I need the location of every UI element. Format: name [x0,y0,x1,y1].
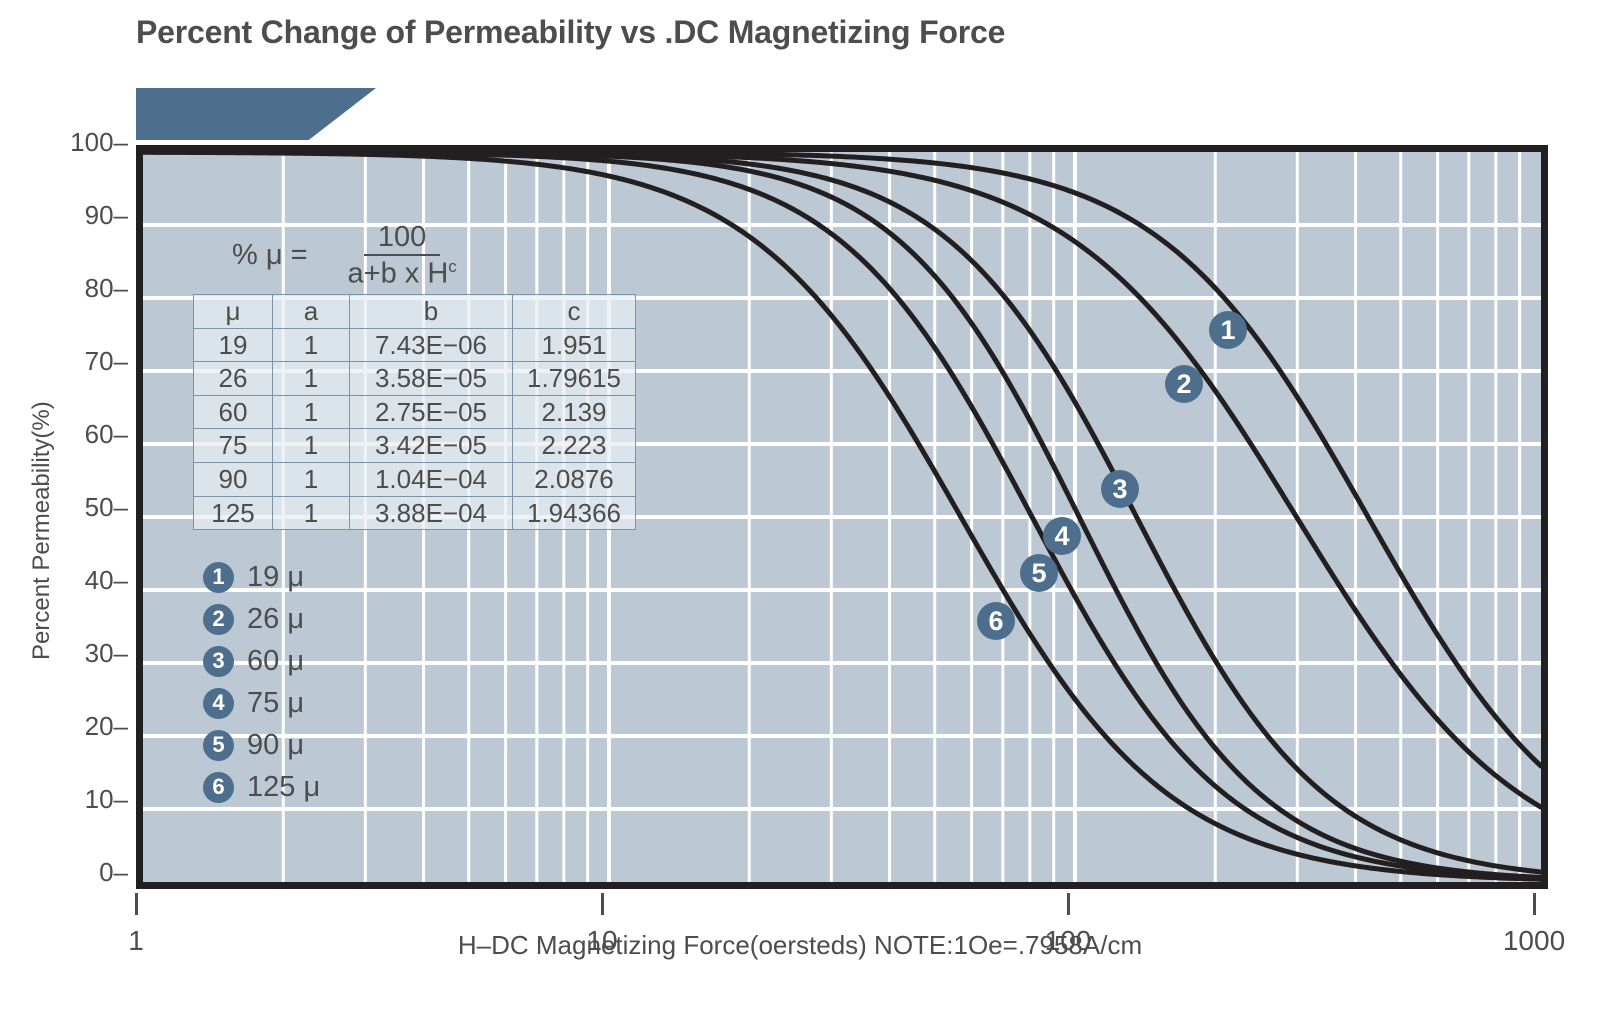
legend-badge-icon: 3 [203,646,234,677]
formula-denominator-base: a+b x H [348,258,449,290]
legend-item-3[interactable]: 360 μ [203,640,320,682]
y-tick-label: 90– [85,200,128,231]
table-cell: 19 [194,328,273,362]
formula-exponent: c [448,257,456,276]
legend-badge-icon: 2 [203,604,234,635]
table-cell: 1.94366 [513,496,636,530]
table-row: 2613.58E−051.79615 [194,362,636,396]
table-cell: 1 [273,429,350,463]
y-tick-label: 40– [85,565,128,596]
table-header-row: μabc [194,295,636,329]
table-cell: 7.43E−06 [350,328,513,362]
table-header-cell: μ [194,295,273,329]
table-row: 9011.04E−042.0876 [194,462,636,496]
table-cell: 26 [194,362,273,396]
x-tick-mark [601,893,604,915]
legend-badge-icon: 4 [203,688,234,719]
x-tick-mark [135,893,138,915]
table-cell: 3.42E−05 [350,429,513,463]
y-tick-label: 30– [85,638,128,669]
table-cell: 2.223 [513,429,636,463]
formula-fraction: 100 a+b x Hc [348,222,457,290]
x-axis-title: H–DC Magnetizing Force(oersteds) NOTE:1O… [0,930,1600,961]
legend-item-label: 26 μ [247,603,304,636]
y-tick-label: 70– [85,346,128,377]
table-cell: 2.75E−05 [350,395,513,429]
legend-badge-icon: 6 [203,772,234,803]
table-cell: 90 [194,462,273,496]
legend-badge-icon: 5 [203,730,234,761]
table-row: 12513.88E−041.94366 [194,496,636,530]
table-cell: 1.79615 [513,362,636,396]
curve-marker-2[interactable]: 2 [1165,365,1203,403]
table-cell: 60 [194,395,273,429]
table-row: 6012.75E−052.139 [194,395,636,429]
y-tick-label: 80– [85,273,128,304]
curve-marker-5[interactable]: 5 [1020,554,1058,592]
y-tick-label: 20– [85,711,128,742]
table-row: 7513.42E−052.223 [194,429,636,463]
table-body: 1917.43E−061.9512613.58E−051.796156012.7… [194,328,636,530]
legend-item-label: 125 μ [247,771,320,804]
y-tick-label: 50– [85,492,128,523]
table-cell: 1.951 [513,328,636,362]
curve-marker-1[interactable]: 1 [1209,311,1247,349]
permeability-formula: % μ = 100 a+b x Hc [232,222,457,290]
table-cell: 1.04E−04 [350,462,513,496]
table-cell: 1 [273,328,350,362]
x-tick-mark [1067,893,1070,915]
formula-numerator: 100 [364,222,440,256]
kam-banner-label: KAM [24,8,93,45]
y-tick-label: 60– [85,419,128,450]
legend-item-label: 60 μ [247,645,304,678]
table-header-cell: b [350,295,513,329]
x-tick-mark [1533,893,1536,915]
y-axis-title: Percent Permeability(%) [28,401,56,660]
table-cell: 1 [273,496,350,530]
legend-item-2[interactable]: 226 μ [203,598,320,640]
curve-marker-6[interactable]: 6 [977,602,1015,640]
table-cell: 3.88E−04 [350,496,513,530]
table-cell: 2.139 [513,395,636,429]
legend-item-label: 19 μ [247,561,304,594]
table-cell: 3.58E−05 [350,362,513,396]
table-cell: 1 [273,362,350,396]
table-cell: 2.0876 [513,462,636,496]
table-header-cell: c [513,295,636,329]
page-title: Percent Change of Permeability vs .DC Ma… [136,14,1005,51]
table-row: 1917.43E−061.951 [194,328,636,362]
legend-item-1[interactable]: 119 μ [203,556,320,598]
kam-banner [136,88,376,140]
table-cell: 1 [273,462,350,496]
legend-item-5[interactable]: 590 μ [203,724,320,766]
formula-lhs: % μ = [232,239,308,272]
y-tick-label: 100– [70,127,128,158]
legend-item-4[interactable]: 475 μ [203,682,320,724]
legend-item-label: 90 μ [247,729,304,762]
table-cell: 75 [194,429,273,463]
table-cell: 1 [273,395,350,429]
formula-denominator: a+b x Hc [348,256,457,289]
y-tick-label: 0– [99,857,128,888]
legend-item-label: 75 μ [247,687,304,720]
curve-marker-3[interactable]: 3 [1101,470,1139,508]
y-tick-label: 10– [85,784,128,815]
curve-marker-4[interactable]: 4 [1043,517,1081,555]
legend-item-6[interactable]: 6125 μ [203,766,320,808]
parameter-table: μabc 1917.43E−061.9512613.58E−051.796156… [193,294,636,530]
legend-badge-icon: 1 [203,562,234,593]
table-header-cell: a [273,295,350,329]
table-cell: 125 [194,496,273,530]
chart-root: Percent Change of Permeability vs .DC Ma… [0,0,1600,1029]
legend: 119 μ226 μ360 μ475 μ590 μ6125 μ [203,556,320,808]
